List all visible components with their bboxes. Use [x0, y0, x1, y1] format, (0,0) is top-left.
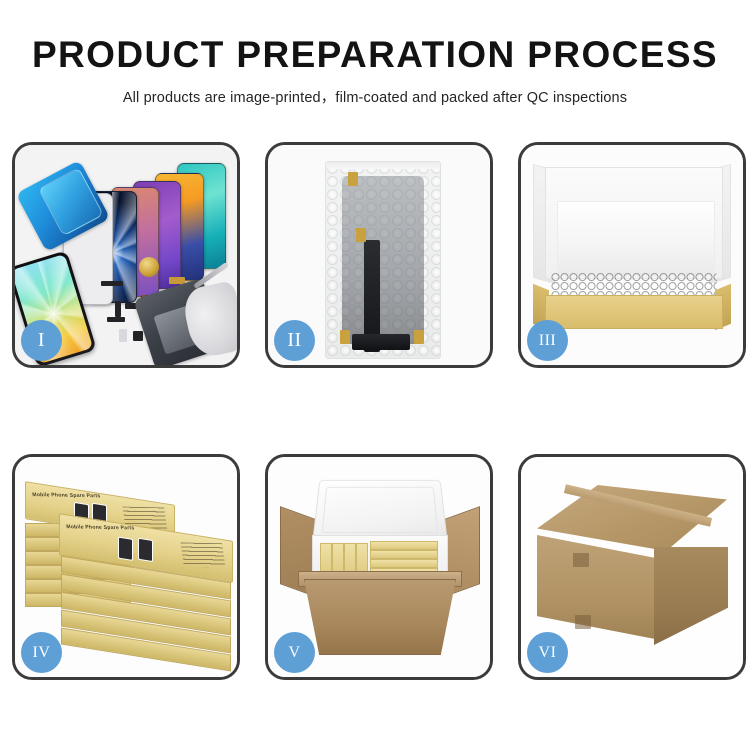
gold-tab-bottom-right	[414, 330, 424, 344]
yellow-box-flat-3	[370, 559, 438, 568]
step-badge-2: II	[274, 320, 315, 361]
product-preparation-infographic: PRODUCT PREPARATION PROCESS All products…	[0, 0, 750, 750]
process-step-4: Mobile Phone Spare Parts Mobile Phone Sp…	[12, 454, 240, 680]
yellow-box-flat-1	[370, 541, 438, 550]
small-connector	[115, 301, 121, 317]
carton-body	[304, 579, 456, 655]
box-print-label: Mobile Phone Spare Parts	[66, 524, 135, 531]
antenna-strip	[107, 317, 125, 322]
box-thumb-a	[118, 537, 133, 561]
process-step-5: V	[265, 454, 493, 680]
bag-top-fold	[326, 161, 440, 169]
process-step-6: VI	[518, 454, 746, 680]
vibration-motor	[133, 331, 143, 341]
speaker-mesh-part	[101, 281, 123, 286]
step-badge-3: III	[527, 320, 568, 361]
wrapped-part-silhouette	[342, 176, 424, 344]
process-step-1: I	[12, 142, 240, 368]
styrofoam-lid	[312, 480, 447, 542]
process-step-3: III	[518, 142, 746, 368]
process-step-2: II	[265, 142, 493, 368]
gold-tab-top	[348, 172, 358, 186]
sim-tray	[119, 329, 127, 342]
yellow-box-front	[545, 295, 723, 329]
carton-notch-top	[573, 553, 589, 567]
box-print-label: Mobile Phone Spare Parts	[32, 492, 101, 499]
carton-notch-bottom	[575, 615, 591, 629]
gold-tab-bottom-left	[340, 330, 350, 344]
bubble-wrap-bag	[325, 161, 441, 359]
yellow-box-flat-2	[370, 550, 438, 559]
gold-camera-ring	[139, 257, 159, 277]
box-spec-lines	[181, 543, 226, 568]
step-badge-6: VI	[527, 632, 568, 673]
header: PRODUCT PREPARATION PROCESS All products…	[0, 36, 750, 107]
process-step-grid: I II	[12, 142, 746, 680]
white-foam-sheet	[557, 201, 715, 277]
page-subtitle: All products are image-printed，film-coat…	[0, 86, 750, 107]
box-stack: Mobile Phone Spare Parts Mobile Phone Sp…	[25, 475, 235, 665]
gold-tab-middle	[356, 228, 366, 242]
step-badge-5: V	[274, 632, 315, 673]
connector-base	[352, 334, 410, 350]
page-title: PRODUCT PREPARATION PROCESS	[0, 36, 750, 75]
step-badge-1: I	[21, 320, 62, 361]
step-badge-4: IV	[21, 632, 62, 673]
box-thumb-b	[138, 538, 153, 562]
